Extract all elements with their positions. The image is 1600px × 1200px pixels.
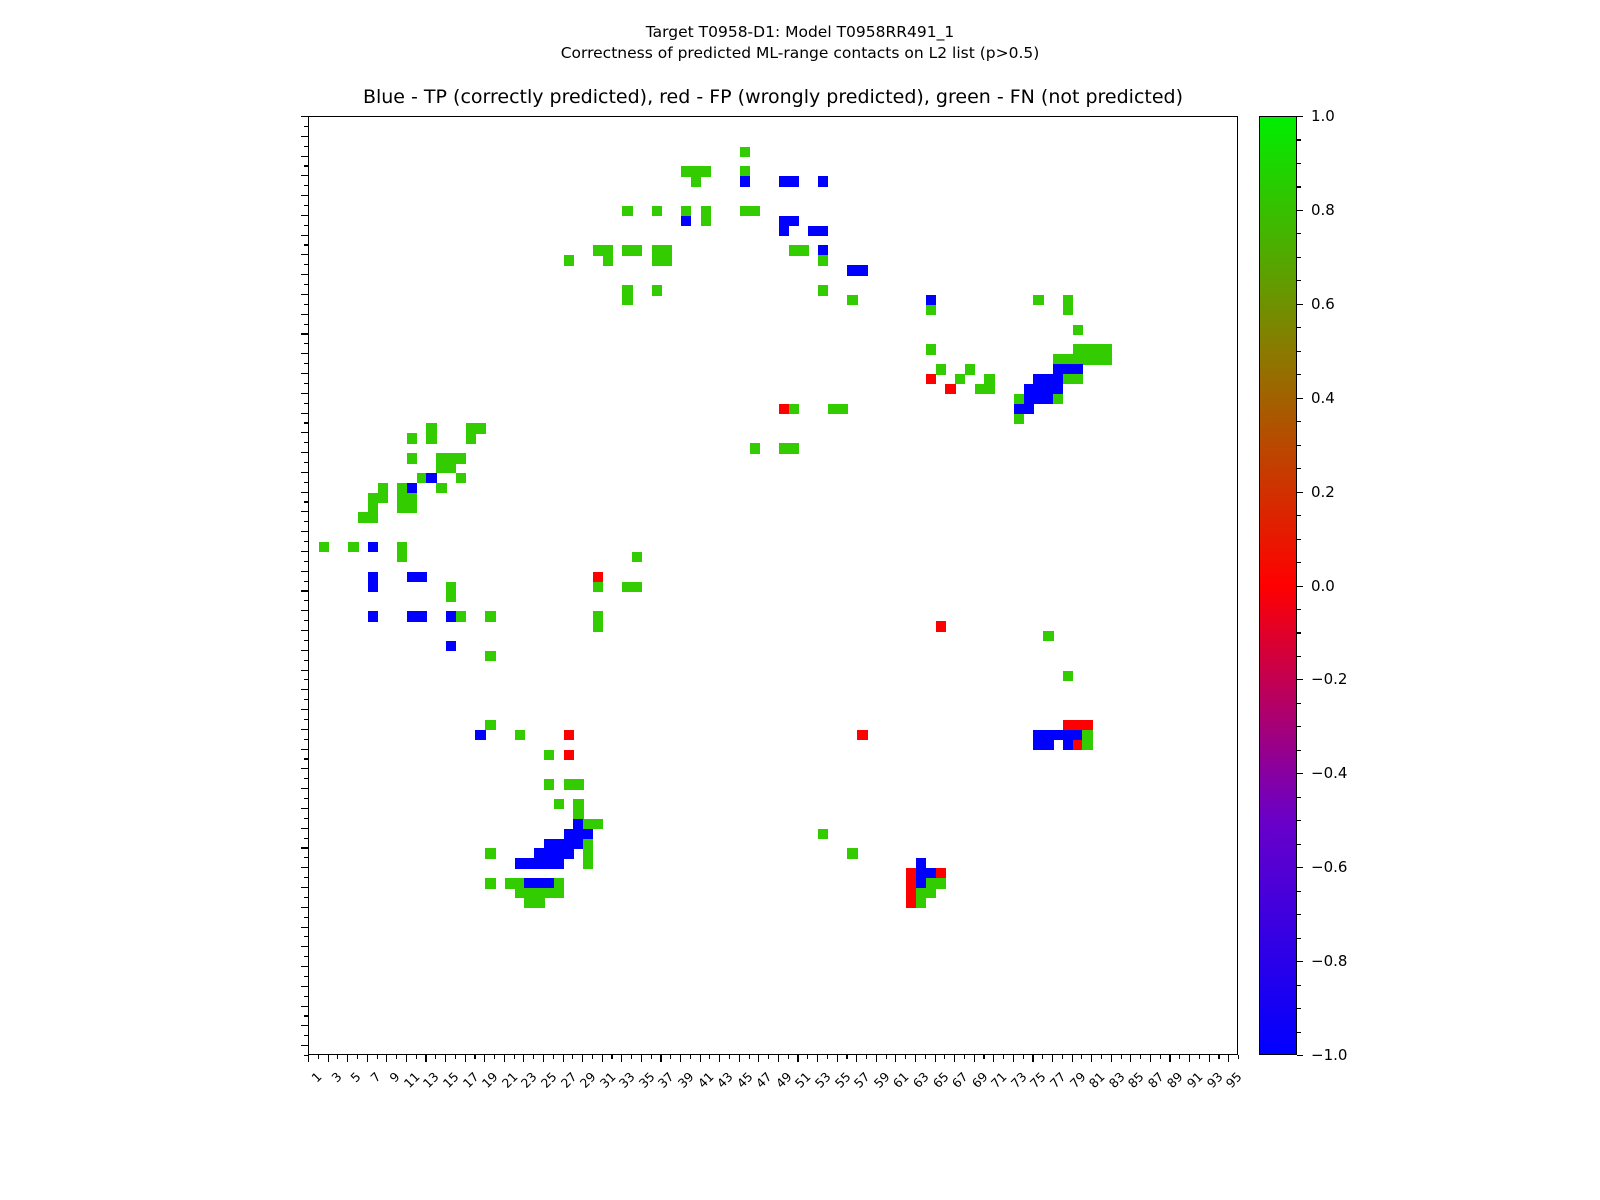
contact-cell [789, 216, 799, 226]
colorbar-gradient[interactable] [1259, 116, 1297, 1055]
contact-cell [446, 463, 456, 473]
y-tick-mark [301, 235, 308, 236]
contact-cell [456, 473, 466, 483]
x-tick-mark [846, 1055, 847, 1059]
x-tick-label: 7 [367, 1069, 383, 1085]
x-tick-mark [337, 1055, 338, 1059]
y-tick-mark [301, 610, 308, 611]
x-tick-mark [455, 1055, 456, 1059]
x-tick-mark [465, 1055, 466, 1062]
contact-cell [818, 255, 828, 265]
x-axis: 1357911131517192123252729313335373941434… [308, 1055, 1238, 1195]
x-tick-mark [1189, 1055, 1190, 1062]
x-tick-mark [474, 1055, 475, 1059]
x-tick-mark [807, 1055, 808, 1059]
colorbar-minor-tick-mark [1297, 914, 1301, 915]
y-tick-mark [301, 907, 308, 908]
contact-cell [485, 848, 495, 858]
contact-cell [466, 433, 476, 443]
y-tick-mark [304, 620, 308, 621]
contact-cell [1082, 730, 1092, 740]
contact-cell [1043, 631, 1053, 641]
x-tick-mark [1209, 1055, 1210, 1062]
x-tick-mark [631, 1055, 632, 1059]
contact-cell [603, 255, 613, 265]
colorbar-minor-tick-mark [1297, 656, 1301, 657]
colorbar-tick-label: −1.0 [1311, 1046, 1347, 1064]
x-tick-mark [700, 1055, 701, 1062]
y-tick-mark [301, 986, 308, 987]
contact-cell [534, 898, 544, 908]
y-tick-mark [304, 877, 308, 878]
contact-cell [701, 216, 711, 226]
colorbar-minor-tick-mark [1297, 632, 1301, 633]
colorbar-tick-label: −0.2 [1311, 670, 1347, 688]
contact-cell [397, 552, 407, 562]
x-tick-mark [1091, 1055, 1092, 1062]
x-tick-mark [749, 1055, 750, 1059]
x-tick-mark [788, 1055, 789, 1059]
y-axis: 1357911131517192123252729313335373941434… [0, 116, 308, 1055]
contact-cell [1063, 305, 1073, 315]
contact-cell [1033, 295, 1043, 305]
y-tick-mark [301, 333, 308, 334]
x-tick-mark [484, 1055, 485, 1062]
y-tick-mark [301, 571, 308, 572]
contact-cell [319, 542, 329, 552]
colorbar-tick-mark [1297, 1055, 1303, 1056]
contact-cell [1073, 325, 1083, 335]
x-tick-mark [1062, 1055, 1063, 1059]
y-tick-mark [304, 126, 308, 127]
contact-cell [1082, 720, 1092, 730]
colorbar-tick-label: −0.8 [1311, 952, 1347, 970]
contact-cell [1024, 404, 1034, 414]
colorbar-minor-tick-mark [1297, 750, 1301, 751]
x-tick-mark [367, 1055, 368, 1062]
x-tick-mark [641, 1055, 642, 1062]
y-tick-mark [304, 838, 308, 839]
y-tick-mark [301, 294, 308, 295]
contact-cell [632, 245, 642, 255]
x-tick-mark [1013, 1055, 1014, 1062]
x-tick-mark [445, 1055, 446, 1062]
colorbar-group: 1.00.80.60.40.20.0−0.2−0.4−0.6−0.8−1.0 [1259, 116, 1579, 1055]
x-tick-mark [611, 1055, 612, 1059]
x-tick-mark [817, 1055, 818, 1062]
y-tick-mark [304, 165, 308, 166]
colorbar-tick-mark [1297, 961, 1303, 962]
contact-cell [857, 265, 867, 275]
contact-cell [554, 799, 564, 809]
x-tick-mark [739, 1055, 740, 1062]
colorbar-minor-tick-mark [1297, 139, 1301, 140]
colorbar-tick-label: 1.0 [1311, 107, 1335, 125]
y-tick-mark [301, 670, 308, 671]
x-tick-mark [856, 1055, 857, 1062]
colorbar-minor-tick-mark [1297, 562, 1301, 563]
contact-cell [1102, 344, 1112, 354]
colorbar-tick-label: −0.4 [1311, 764, 1347, 782]
y-tick-mark [301, 1006, 308, 1007]
colorbar-minor-tick-mark [1297, 186, 1301, 187]
suptitle-line-1: Target T0958-D1: Model T0958RR491_1 [646, 23, 954, 41]
x-tick-mark [1032, 1055, 1033, 1062]
contact-cell [446, 641, 456, 651]
x-tick-mark [386, 1055, 387, 1062]
contact-cell [368, 512, 378, 522]
x-tick-label: 67 [949, 1069, 971, 1091]
contact-cell [750, 206, 760, 216]
x-tick-mark [1111, 1055, 1112, 1062]
contact-cell [456, 611, 466, 621]
x-tick-mark [651, 1055, 652, 1059]
y-tick-mark [304, 1015, 308, 1016]
colorbar-tick-mark [1297, 210, 1303, 211]
contact-cell [1014, 414, 1024, 424]
x-tick-label: 15 [440, 1069, 462, 1091]
x-tick-mark [680, 1055, 681, 1062]
contact-cell [661, 255, 671, 265]
y-tick-mark [304, 917, 308, 918]
contact-cell [661, 245, 671, 255]
contact-cell [632, 582, 642, 592]
contact-cell [926, 295, 936, 305]
contact-cell [407, 433, 417, 443]
contact-cell [936, 621, 946, 631]
contact-cell [593, 582, 603, 592]
x-tick-mark [1160, 1055, 1161, 1059]
x-tick-mark [1218, 1055, 1219, 1059]
y-tick-mark [301, 156, 308, 157]
x-tick-mark [709, 1055, 710, 1059]
colorbar-tick-mark [1297, 679, 1303, 680]
contact-cell [798, 245, 808, 255]
x-tick-mark [533, 1055, 534, 1059]
contact-cell [378, 493, 388, 503]
colorbar-minor-tick-mark [1297, 891, 1301, 892]
x-tick-label: 29 [577, 1069, 599, 1091]
colorbar-tick-label: 0.0 [1311, 577, 1335, 595]
y-tick-mark [304, 521, 308, 522]
y-tick-mark [301, 1025, 308, 1026]
y-tick-mark [304, 857, 308, 858]
x-tick-mark [396, 1055, 397, 1059]
contact-cell [1063, 295, 1073, 305]
contact-cell [583, 858, 593, 868]
x-tick-mark [416, 1055, 417, 1059]
x-tick-mark [660, 1055, 661, 1062]
contact-cell [475, 730, 485, 740]
colorbar-minor-tick-mark [1297, 374, 1301, 375]
x-tick-mark [582, 1055, 583, 1062]
x-tick-mark [915, 1055, 916, 1062]
x-tick-mark [572, 1055, 573, 1059]
contact-cell [573, 799, 583, 809]
y-tick-mark [304, 936, 308, 937]
contact-cell [368, 542, 378, 552]
x-tick-mark [993, 1055, 994, 1062]
contact-cell [446, 582, 456, 592]
y-tick-mark [301, 452, 308, 453]
contact-cell [368, 502, 378, 512]
colorbar-minor-tick-mark [1297, 1032, 1301, 1033]
x-tick-mark [964, 1055, 965, 1059]
colorbar-minor-tick-mark [1297, 539, 1301, 540]
colorbar-tick-mark [1297, 867, 1303, 868]
y-tick-mark [301, 828, 308, 829]
contact-cell [1102, 354, 1112, 364]
y-tick-mark [304, 719, 308, 720]
colorbar-tick-label: 0.4 [1311, 389, 1335, 407]
contact-cell [818, 245, 828, 255]
y-tick-mark [301, 689, 308, 690]
contact-cell [691, 176, 701, 186]
colorbar-minor-tick-mark [1297, 468, 1301, 469]
contact-cell [485, 720, 495, 730]
contact-cell [603, 245, 613, 255]
y-tick-mark [301, 650, 308, 651]
x-tick-label: 25 [538, 1069, 560, 1091]
colorbar-tick-label: 0.6 [1311, 295, 1335, 313]
y-tick-mark [304, 739, 308, 740]
contact-cell [417, 611, 427, 621]
y-tick-mark [304, 778, 308, 779]
y-tick-mark [304, 482, 308, 483]
contact-cell [847, 848, 857, 858]
x-tick-mark [494, 1055, 495, 1059]
x-tick-mark [944, 1055, 945, 1059]
y-tick-mark [301, 254, 308, 255]
contact-cell [847, 295, 857, 305]
y-tick-mark [304, 679, 308, 680]
x-tick-mark [758, 1055, 759, 1062]
y-tick-mark [301, 116, 308, 117]
colorbar-minor-tick-mark [1297, 421, 1301, 422]
x-tick-label: 63 [910, 1069, 932, 1091]
x-tick-mark [1130, 1055, 1131, 1062]
x-tick-mark [983, 1055, 984, 1059]
x-tick-mark [543, 1055, 544, 1062]
contact-cell [583, 848, 593, 858]
y-tick-mark [301, 413, 308, 414]
y-tick-mark [304, 185, 308, 186]
x-tick-mark [895, 1055, 896, 1062]
x-tick-mark [504, 1055, 505, 1062]
y-tick-mark [301, 551, 308, 552]
y-tick-mark [304, 561, 308, 562]
colorbar-minor-tick-mark [1297, 233, 1301, 234]
contact-cell [593, 611, 603, 621]
contact-cell [789, 443, 799, 453]
y-tick-mark [301, 709, 308, 710]
y-tick-mark [301, 215, 308, 216]
contact-cell [936, 868, 946, 878]
contact-cell [818, 176, 828, 186]
colorbar-tick-mark [1297, 304, 1303, 305]
figure-suptitle: Target T0958-D1: Model T0958RR491_1Corre… [0, 22, 1600, 64]
y-tick-mark [301, 531, 308, 532]
y-tick-mark [301, 195, 308, 196]
colorbar-minor-tick-mark [1297, 163, 1301, 164]
contact-cell [544, 750, 554, 760]
x-tick-mark [1150, 1055, 1151, 1062]
x-tick-mark [1101, 1055, 1102, 1059]
contact-cell [838, 404, 848, 414]
x-tick-mark [1023, 1055, 1024, 1059]
suptitle-line-2: Correctness of predicted ML-range contac… [561, 44, 1040, 62]
contact-cell [564, 848, 574, 858]
x-tick-mark [328, 1055, 329, 1062]
contact-cell [378, 483, 388, 493]
colorbar-minor-tick-mark [1297, 327, 1301, 328]
contact-cell [485, 878, 495, 888]
x-tick-mark [866, 1055, 867, 1059]
contact-cell [544, 779, 554, 789]
y-tick-mark [301, 472, 308, 473]
y-tick-mark [304, 798, 308, 799]
colorbar-minor-tick-mark [1297, 844, 1301, 845]
contact-cell [818, 285, 828, 295]
x-tick-mark [621, 1055, 622, 1062]
x-tick-mark [435, 1055, 436, 1059]
contact-cell [652, 206, 662, 216]
contact-cell [926, 305, 936, 315]
contact-cell [564, 730, 574, 740]
x-tick-mark [602, 1055, 603, 1062]
x-tick-mark [1238, 1055, 1239, 1059]
x-tick-mark [1228, 1055, 1229, 1062]
colorbar-tick-mark [1297, 773, 1303, 774]
x-tick-mark [592, 1055, 593, 1059]
contact-cell [348, 542, 358, 552]
colorbar-tick-mark [1297, 492, 1303, 493]
x-tick-mark [729, 1055, 730, 1059]
y-tick-mark [304, 324, 308, 325]
y-tick-mark [304, 343, 308, 344]
y-tick-mark [301, 630, 308, 631]
contact-cell [740, 166, 750, 176]
contact-cell [926, 344, 936, 354]
y-tick-mark [304, 462, 308, 463]
contact-cell [407, 453, 417, 463]
contact-cell [554, 858, 564, 868]
y-tick-mark [301, 314, 308, 315]
x-tick-mark [1081, 1055, 1082, 1059]
colorbar-minor-tick-mark [1297, 445, 1301, 446]
contact-cell [632, 552, 642, 562]
y-tick-mark [301, 847, 308, 848]
colorbar-minor-tick-mark [1297, 515, 1301, 516]
contact-cell [955, 374, 965, 384]
y-tick-mark [304, 146, 308, 147]
y-tick-mark [304, 600, 308, 601]
y-tick-mark [304, 225, 308, 226]
y-tick-mark [301, 175, 308, 176]
y-tick-mark [301, 393, 308, 394]
y-tick-mark [304, 363, 308, 364]
x-tick-mark [719, 1055, 720, 1062]
y-tick-mark [301, 768, 308, 769]
colorbar-minor-tick-mark [1297, 351, 1301, 352]
contact-cell [368, 611, 378, 621]
y-tick-mark [301, 511, 308, 512]
y-tick-mark [304, 976, 308, 977]
x-tick-mark [1042, 1055, 1043, 1059]
y-tick-mark [304, 699, 308, 700]
x-tick-label: 9 [387, 1069, 403, 1085]
x-tick-mark [553, 1055, 554, 1059]
contact-cell [485, 651, 495, 661]
contact-cell [1082, 740, 1092, 750]
y-tick-mark [301, 136, 308, 137]
colorbar-minor-tick-mark [1297, 609, 1301, 610]
x-tick-mark [827, 1055, 828, 1059]
y-tick-mark [301, 966, 308, 967]
colorbar-minor-tick-mark [1297, 257, 1301, 258]
x-tick-mark [797, 1055, 798, 1062]
contact-cell [564, 750, 574, 760]
y-tick-mark [304, 264, 308, 265]
y-tick-mark [304, 897, 308, 898]
y-tick-mark [301, 946, 308, 947]
x-tick-mark [837, 1055, 838, 1062]
contact-cell [515, 730, 525, 740]
x-tick-label: 77 [1047, 1069, 1069, 1091]
y-tick-mark [301, 729, 308, 730]
contact-cell [926, 888, 936, 898]
contact-cell [916, 898, 926, 908]
contact-cell [564, 255, 574, 265]
contact-cell [818, 829, 828, 839]
x-tick-mark [377, 1055, 378, 1059]
contact-cell [936, 364, 946, 374]
x-tick-label: 39 [675, 1069, 697, 1091]
contact-cell [701, 166, 711, 176]
x-tick-mark [954, 1055, 955, 1062]
figure-canvas: Target T0958-D1: Model T0958RR491_1Corre… [0, 0, 1600, 1200]
y-tick-mark [304, 403, 308, 404]
colorbar-minor-tick-mark [1297, 703, 1301, 704]
colorbar-minor-tick-mark [1297, 797, 1301, 798]
contact-cell [426, 433, 436, 443]
contact-cell [740, 147, 750, 157]
y-tick-mark [301, 492, 308, 493]
y-tick-mark [301, 1045, 308, 1046]
contact-cell [475, 423, 485, 433]
contact-cell [965, 364, 975, 374]
contact-cell [652, 285, 662, 295]
x-tick-mark [318, 1055, 319, 1059]
contact-cell [417, 572, 427, 582]
contact-cell [945, 384, 955, 394]
y-tick-mark [301, 373, 308, 374]
x-tick-mark [347, 1055, 348, 1062]
x-tick-mark [935, 1055, 936, 1062]
y-tick-mark [301, 353, 308, 354]
contact-cell [407, 483, 417, 493]
x-tick-mark [876, 1055, 877, 1062]
x-tick-mark [1179, 1055, 1180, 1059]
y-tick-mark [301, 927, 308, 928]
x-tick-mark [425, 1055, 426, 1062]
colorbar-tick-mark [1297, 586, 1303, 587]
y-tick-mark [304, 1035, 308, 1036]
contact-cell [573, 779, 583, 789]
x-tick-mark [523, 1055, 524, 1062]
contact-map-plot[interactable] [308, 116, 1238, 1055]
y-tick-mark [304, 818, 308, 819]
